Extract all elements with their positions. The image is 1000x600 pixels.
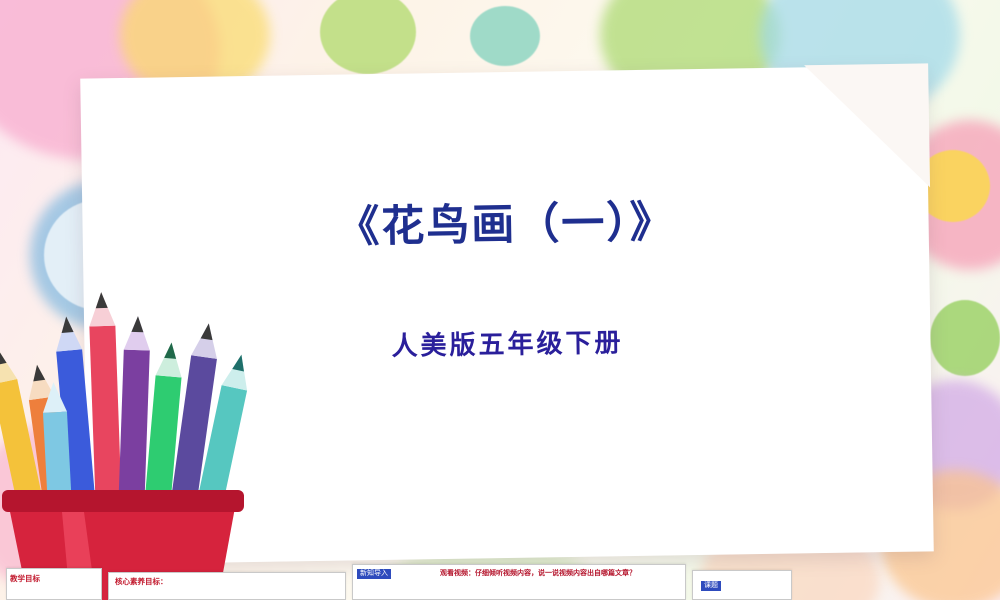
blob-green-right <box>930 300 1000 376</box>
slide-canvas: 《花鸟画（一）》 人美版五年级下册 <box>0 0 1000 600</box>
paper-fold-corner <box>804 63 930 189</box>
thumb-new-lesson-body: 观看视频：仔细倾听视频内容，说一说视频内容出自哪篇文章？ <box>407 570 669 579</box>
thumb-new-lesson-tag: 新知导入 <box>357 569 391 579</box>
thumb-core-literacy[interactable]: 核心素养目标： <box>108 572 346 600</box>
thumb-teaching-goal[interactable]: 教学目标 <box>6 568 102 600</box>
thumb-core-literacy-title: 核心素养目标： <box>115 576 168 587</box>
thumb-teaching-goal-title: 教学目标 <box>10 573 40 584</box>
blob-teal-top <box>470 6 540 66</box>
pencil-cup-illustration <box>0 150 270 600</box>
thumb-topic-tag: 课题 <box>701 581 721 591</box>
thumb-topic[interactable]: 课题 <box>692 570 792 600</box>
thumb-new-lesson[interactable]: 新知导入 观看视频：仔细倾听视频内容，说一说视频内容出自哪篇文章？ <box>352 564 686 600</box>
slide-thumbnail-strip[interactable]: 教学目标 核心素养目标： 新知导入 观看视频：仔细倾听视频内容，说一说视频内容出… <box>0 558 1000 600</box>
